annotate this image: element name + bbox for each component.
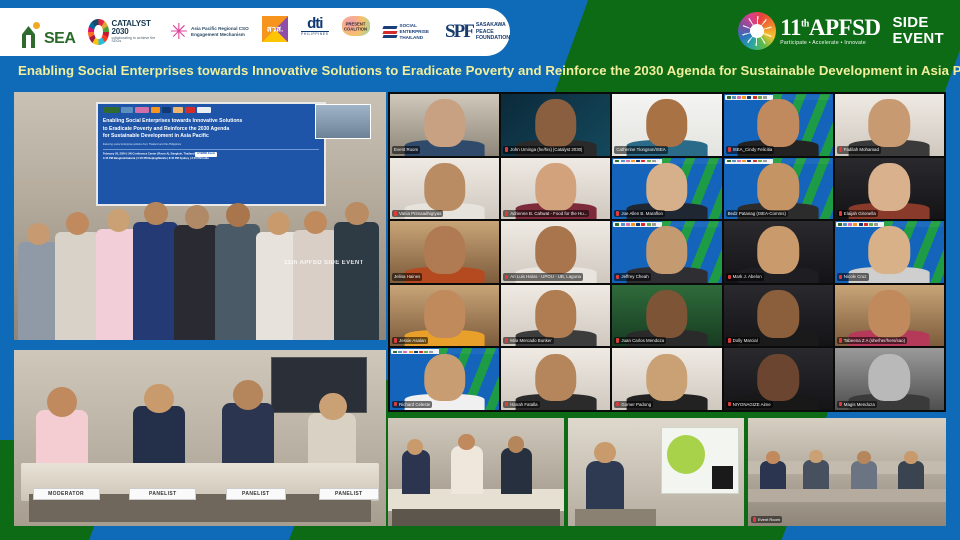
logo-chip bbox=[641, 160, 645, 162]
photo-caption: Event Room bbox=[751, 516, 782, 523]
zoom-participant-tile[interactable]: Elaijah Gironella bbox=[835, 158, 944, 220]
participant-name-label: Mila Mercado Bunker bbox=[503, 337, 553, 344]
attendee bbox=[402, 450, 430, 493]
mic-muted-icon bbox=[728, 338, 731, 343]
participant-name-label: John Uminga (he/his) |Catalyst 2030| bbox=[503, 146, 584, 153]
person-head bbox=[345, 202, 369, 226]
dti-logo-label: dti bbox=[307, 16, 322, 31]
name-plate: PANELIST bbox=[129, 488, 196, 500]
mic-muted-icon bbox=[394, 402, 397, 407]
logo-chip bbox=[742, 160, 746, 162]
participant-face bbox=[757, 226, 798, 274]
present-coalition-label: PRESENT COALITION bbox=[343, 22, 369, 31]
logo-chip bbox=[652, 160, 656, 162]
page-title: Enabling Social Enterprises towards Inno… bbox=[18, 63, 944, 78]
zoom-participant-tile[interactable]: Juan Carlos Mendoza bbox=[612, 285, 721, 347]
isea-logo-label: SEA bbox=[44, 30, 75, 48]
mic-muted-icon bbox=[839, 338, 842, 343]
logo-chip bbox=[626, 160, 630, 162]
participant-name-label: Magis Mendoza bbox=[837, 401, 877, 408]
logo-chip bbox=[409, 351, 413, 353]
panel-photo-bottom-left: MODERATOR PANELIST PANELIST PANELIST bbox=[14, 350, 386, 526]
qr-code bbox=[712, 466, 733, 490]
zoom-participant-tile[interactable]: Tabeena Z A (she/her/hers/sao) bbox=[835, 285, 944, 347]
logo-chip bbox=[621, 160, 625, 162]
logo-chip bbox=[403, 351, 407, 353]
zoom-participant-tile[interactable]: ISEA_Cindy Felicitia bbox=[724, 94, 833, 156]
logo-chip bbox=[419, 351, 423, 353]
person bbox=[293, 230, 338, 340]
participant-name-label: Hanah Fatalla bbox=[503, 401, 539, 408]
zoom-participant-tile[interactable]: Vania Primaadhigtyas bbox=[390, 158, 499, 220]
mic-muted-icon bbox=[505, 211, 508, 216]
participant-name-label: NIYONAGIZE Aime bbox=[726, 401, 773, 408]
logo-chip bbox=[859, 223, 863, 225]
participant-name-label: Jeffrey Cheah bbox=[614, 273, 650, 280]
dti-logo-sub: PHILIPPINES bbox=[301, 31, 329, 36]
attendee bbox=[760, 461, 786, 489]
slide-graphic bbox=[667, 435, 706, 474]
participant-name-label: Ari Luis Halos - UPOU - UB, Laguna bbox=[503, 273, 583, 280]
logo-chip bbox=[747, 160, 751, 162]
attendee bbox=[803, 460, 829, 489]
group-photo-top-left: Enabling Social Enterprises towards Inno… bbox=[14, 92, 386, 340]
participant-name-label: Catherine Tiongson/ISEA bbox=[614, 146, 667, 153]
person-head bbox=[304, 211, 327, 234]
slide-corner-thumbnail bbox=[315, 104, 371, 139]
logo-chip bbox=[398, 351, 402, 353]
mic-muted-icon bbox=[505, 275, 508, 280]
participant-face bbox=[869, 226, 910, 274]
catalyst-2030-logo: CATALYST 2030 collaborating to achieve t… bbox=[88, 16, 156, 48]
participant-name-label: Event Room bbox=[392, 146, 420, 153]
logo-chip bbox=[737, 96, 741, 98]
person bbox=[334, 222, 379, 340]
starburst-icon: ✳ bbox=[170, 21, 188, 43]
breakout-discussion-photo bbox=[388, 418, 564, 526]
logo-chip bbox=[727, 160, 731, 162]
zoom-participant-tile[interactable]: Adrienne B. Cahwat - Food for the Hu... bbox=[501, 158, 610, 220]
zoom-participant-tile[interactable]: Catherine Tiongson/ISEA bbox=[612, 94, 721, 156]
logo-chip bbox=[641, 223, 645, 225]
mic-muted-icon bbox=[616, 338, 619, 343]
logo-chip bbox=[758, 96, 762, 98]
participant-face bbox=[646, 290, 687, 338]
logo-chip bbox=[424, 351, 428, 353]
participant-name-label: Jelina Haines bbox=[392, 273, 422, 280]
logo-chip bbox=[615, 160, 619, 162]
zoom-participant-tile[interactable]: Bedz Patanag (ISEA-Comms) bbox=[724, 158, 833, 220]
panelist-head bbox=[233, 380, 263, 410]
thai-social-enterprise-logo bbox=[262, 16, 288, 48]
participant-name-label: Elaijah Gironella bbox=[837, 210, 878, 217]
ap-rcem-logo-label: Asia Pacific Regional CSO Engagement Mec… bbox=[191, 26, 249, 37]
presentation-photo bbox=[568, 418, 744, 526]
logo-chip bbox=[647, 160, 651, 162]
zoom-participant-tile[interactable]: Gomer Padong bbox=[612, 348, 721, 410]
attendee bbox=[898, 461, 924, 489]
zoom-participant-tile[interactable]: Mark J. Abelon bbox=[724, 221, 833, 283]
participant-name-label: Adrienne B. Cahwat - Food for the Hu... bbox=[503, 210, 589, 217]
isea-house-icon bbox=[22, 26, 35, 48]
participant-name-label: Joe Allen B. Maraflon bbox=[614, 210, 665, 217]
panelist-head bbox=[47, 387, 77, 417]
side-event-label: SIDE EVENT bbox=[892, 15, 944, 47]
attendee bbox=[851, 461, 877, 489]
attendee bbox=[501, 448, 533, 493]
set-stripes-icon bbox=[383, 26, 397, 38]
participant-face bbox=[757, 99, 798, 147]
mic-muted-icon bbox=[505, 338, 508, 343]
logo-chip bbox=[843, 223, 847, 225]
participant-face bbox=[535, 354, 576, 402]
participant-face bbox=[535, 290, 576, 338]
slide-meta-line2: 4:45 PM Bangkok/Jakarta | 5:45 PM Beijin… bbox=[103, 157, 320, 161]
logo-chip bbox=[393, 351, 397, 353]
mic-muted-icon bbox=[728, 147, 731, 152]
zoom-participant-tile[interactable]: Dolly Marcial bbox=[724, 285, 833, 347]
slide-title-line1: Enabling Social Enterprises towards Inno… bbox=[103, 118, 320, 126]
logo-chip bbox=[853, 223, 857, 225]
dti-philippines-logo: dti PHILIPPINES bbox=[301, 16, 329, 48]
person bbox=[55, 232, 100, 340]
present-coalition-logo: PRESENT COALITION bbox=[342, 16, 370, 48]
participant-face bbox=[424, 163, 465, 211]
social-enterprise-thailand-logo: SOCIAL ENTERPRISE THAILAND bbox=[383, 16, 433, 48]
spf-logo-label: SASAKAWA PEACE FOUNDATION bbox=[476, 22, 510, 42]
person-head bbox=[185, 205, 209, 229]
logo-chip bbox=[763, 160, 767, 162]
zoom-participant-tile[interactable]: John Uminga (he/his) |Catalyst 2030| bbox=[501, 94, 610, 156]
speaker-head bbox=[594, 442, 615, 463]
logo-chip bbox=[758, 160, 762, 162]
slide-title-line2: to Eradicate Poverty and Reinforce the 2… bbox=[103, 126, 320, 134]
zoom-participant-tile[interactable]: Hanah Fatalla bbox=[501, 348, 610, 410]
participant-name-label: ISEA_Cindy Felicitia bbox=[726, 146, 775, 153]
slide-title-line3: for Sustainable Development in Asia Paci… bbox=[103, 133, 320, 141]
logo-chip bbox=[732, 96, 736, 98]
attendee-head bbox=[857, 451, 871, 465]
person-head bbox=[107, 209, 130, 232]
logo-chip bbox=[429, 351, 433, 353]
zoom-participant-tile[interactable]: Event Room bbox=[390, 94, 499, 156]
catalyst-logo-sub: collaborating to achieve the SDGs bbox=[112, 37, 157, 45]
group-photo-people bbox=[14, 176, 386, 340]
person-head bbox=[226, 203, 250, 227]
zoom-participant-tile[interactable]: Mila Mercado Bunker bbox=[501, 285, 610, 347]
participant-face bbox=[424, 290, 465, 338]
mic-muted-icon bbox=[728, 275, 731, 280]
logo-chip bbox=[647, 223, 651, 225]
sdg-wheel-icon bbox=[88, 19, 108, 45]
person bbox=[133, 222, 178, 340]
mic-muted-icon bbox=[505, 402, 508, 407]
logo-chip bbox=[869, 223, 873, 225]
present-coalition-blob-icon: PRESENT COALITION bbox=[342, 16, 370, 36]
apfsd-tagline: Participate • Accelerate • Innovate bbox=[780, 41, 880, 46]
attendee-head bbox=[766, 451, 780, 465]
participant-name-label: Nicole Cruz bbox=[837, 273, 869, 280]
participant-face bbox=[424, 354, 465, 402]
table-row bbox=[748, 489, 946, 502]
apfsd-title: 11thAPFSD bbox=[780, 16, 880, 39]
apfsd-swirl-icon bbox=[738, 12, 776, 50]
logo-chip bbox=[652, 223, 656, 225]
participant-face bbox=[646, 226, 687, 274]
zoom-participant-tile[interactable]: Jessie Asalan bbox=[390, 285, 499, 347]
logo-chip bbox=[753, 160, 757, 162]
panelist-head bbox=[144, 384, 174, 414]
mic-muted-icon bbox=[839, 275, 842, 280]
table-front bbox=[392, 509, 561, 526]
logo-chip bbox=[621, 223, 625, 225]
slide-subtitle: featuring social enterprise policies fro… bbox=[103, 143, 320, 146]
logo-chip bbox=[615, 223, 619, 225]
logo-chip bbox=[631, 223, 635, 225]
logo-chip bbox=[874, 223, 878, 225]
spf-monogram-icon: SPF bbox=[445, 21, 473, 43]
participant-name-label: Jessie Asalan bbox=[392, 337, 428, 344]
person bbox=[174, 225, 219, 340]
speaker bbox=[586, 461, 625, 511]
mic-muted-icon bbox=[839, 147, 842, 152]
logo-chip bbox=[864, 223, 868, 225]
zoom-participant-tile[interactable]: Nicole Cruz bbox=[835, 221, 944, 283]
participant-face bbox=[869, 290, 910, 338]
mic-muted-icon bbox=[728, 402, 731, 407]
participant-name-label: Dolly Marcial bbox=[726, 337, 760, 344]
zoom-participant-tile[interactable]: Jeffrey Cheah bbox=[612, 221, 721, 283]
participant-face bbox=[646, 163, 687, 211]
conference-room-photo: Event Room bbox=[748, 418, 946, 526]
logo-chip bbox=[763, 96, 767, 98]
panelist-head bbox=[319, 393, 347, 421]
partner-logo-bar: SEA CATALYST 2030 collaborating to achie… bbox=[0, 8, 510, 56]
participant-face bbox=[757, 354, 798, 402]
name-plate: MODERATOR bbox=[33, 488, 100, 500]
participant-face bbox=[757, 163, 798, 211]
apfsd-logo: 11thAPFSD Participate • Accelerate • Inn… bbox=[738, 12, 880, 50]
slide-logo-strip bbox=[103, 107, 320, 114]
attendee-head bbox=[508, 436, 525, 453]
set-logo-label: SOCIAL ENTERPRISE THAILAND bbox=[400, 23, 433, 41]
logo-chip bbox=[626, 223, 630, 225]
participant-name-label: Bedz Patanag (ISEA-Comms) bbox=[726, 210, 788, 217]
participant-face bbox=[869, 163, 910, 211]
logo-chip bbox=[848, 223, 852, 225]
logo-chip bbox=[636, 223, 640, 225]
thai-tangram-icon bbox=[262, 16, 288, 42]
logo-chip bbox=[747, 96, 751, 98]
podium bbox=[575, 509, 656, 526]
participant-name-label: Richard Celeste bbox=[392, 401, 432, 408]
logo-chip bbox=[742, 96, 746, 98]
participant-face bbox=[869, 99, 910, 147]
person bbox=[215, 224, 260, 340]
mic-muted-icon bbox=[394, 338, 397, 343]
participant-name-label: Gomer Padong bbox=[614, 401, 653, 408]
logo-chip bbox=[737, 160, 741, 162]
logo-chip bbox=[753, 96, 757, 98]
isea-logo: SEA bbox=[22, 16, 75, 48]
participant-name-label: Juan Carlos Mendoza bbox=[614, 337, 666, 344]
logo-chip bbox=[732, 160, 736, 162]
zoom-participant-grid[interactable]: Event RoomJohn Uminga (he/his) |Catalyst… bbox=[388, 92, 946, 412]
mic-muted-icon bbox=[616, 275, 619, 280]
logo-chip bbox=[414, 351, 418, 353]
ap-rcem-logo: ✳ Asia Pacific Regional CSO Engagement M… bbox=[170, 16, 249, 48]
apfsd-branding: 11thAPFSD Participate • Accelerate • Inn… bbox=[738, 12, 944, 50]
attendee-head bbox=[407, 439, 423, 455]
name-plate: PANELIST bbox=[319, 488, 379, 500]
sasakawa-peace-foundation-logo: SPF SASAKAWA PEACE FOUNDATION bbox=[445, 16, 510, 48]
participant-face bbox=[424, 99, 465, 147]
participant-name-label: Tabeena Z A (she/her/hers/sao) bbox=[837, 337, 907, 344]
mic-muted-icon bbox=[753, 517, 756, 522]
person bbox=[18, 242, 59, 340]
mic-muted-icon bbox=[505, 147, 508, 152]
logo-chip bbox=[727, 96, 731, 98]
isea-sun-icon bbox=[33, 22, 40, 29]
group-photo-caption: 11th APFSD SIDE EVENT bbox=[284, 260, 364, 266]
participant-face bbox=[646, 354, 687, 402]
participant-name-label: Fadilah Mohamad bbox=[837, 146, 881, 153]
slide-divider bbox=[103, 149, 320, 150]
participant-face bbox=[535, 226, 576, 274]
logo-chip bbox=[631, 160, 635, 162]
participant-name-label: Mark J. Abelon bbox=[726, 273, 764, 280]
logo-chip bbox=[636, 160, 640, 162]
zoom-participant-tile[interactable]: NIYONAGIZE Aime bbox=[724, 348, 833, 410]
zoom-participant-tile[interactable]: Joe Allen B. Maraflon bbox=[612, 158, 721, 220]
mic-muted-icon bbox=[839, 211, 842, 216]
zoom-participant-tile[interactable]: Richard Celeste bbox=[390, 348, 499, 410]
logo-chip bbox=[838, 223, 842, 225]
mic-muted-icon bbox=[394, 211, 397, 216]
participant-name-label: Vania Primaadhigtyas bbox=[392, 210, 443, 217]
participant-face bbox=[535, 163, 576, 211]
mic-muted-icon bbox=[616, 211, 619, 216]
participant-face bbox=[757, 290, 798, 338]
participant-face bbox=[424, 226, 465, 274]
zoom-participant-tile[interactable]: Magis Mendoza bbox=[835, 348, 944, 410]
event-collage-poster: SEA CATALYST 2030 collaborating to achie… bbox=[0, 0, 960, 540]
mic-muted-icon bbox=[616, 402, 619, 407]
participant-face bbox=[646, 99, 687, 147]
mic-muted-icon bbox=[839, 402, 842, 407]
participant-face bbox=[869, 354, 910, 402]
catalyst-logo-label: CATALYST 2030 bbox=[112, 20, 157, 37]
zoom-participant-tile[interactable]: Ari Luis Halos - UPOU - UB, Laguna bbox=[501, 221, 610, 283]
zoom-participant-tile[interactable]: Jelina Haines bbox=[390, 221, 499, 283]
attendee bbox=[451, 446, 483, 494]
participant-face bbox=[535, 99, 576, 147]
name-plate: PANELIST bbox=[226, 488, 286, 500]
zoom-participant-tile[interactable]: Fadilah Mohamad bbox=[835, 94, 944, 156]
person-head bbox=[27, 223, 49, 245]
